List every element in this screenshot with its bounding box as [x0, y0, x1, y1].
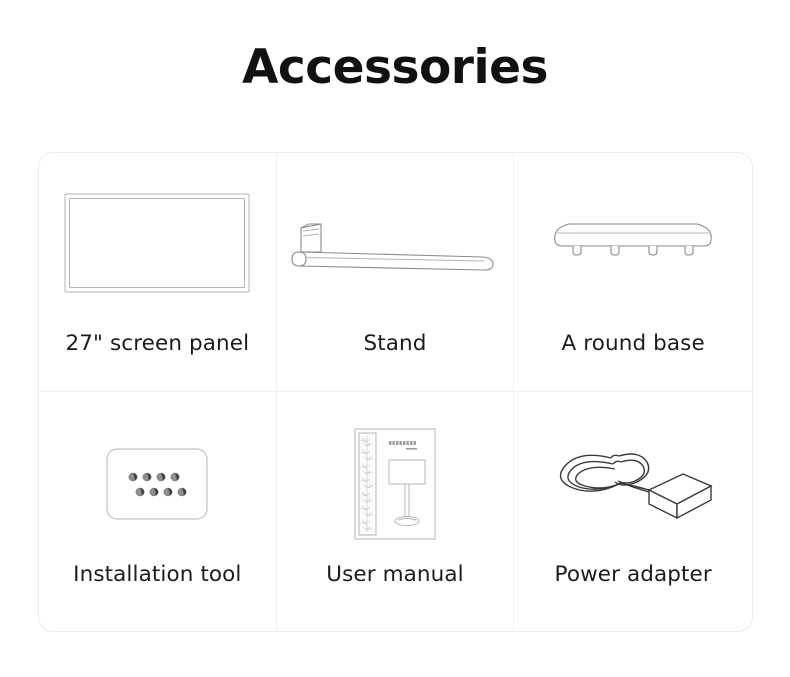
accessory-cell-power-adapter[interactable]: Power adapter — [514, 392, 752, 631]
accessories-grid: 27" screen panel Stand — [39, 153, 752, 631]
monitor-panel-icon — [39, 153, 276, 331]
monitor-base-icon — [514, 153, 752, 331]
accessory-cell-stand[interactable]: Stand — [277, 153, 515, 392]
manual-booklet-icon — [277, 392, 514, 562]
accessory-label: Installation tool — [73, 562, 241, 588]
accessory-label: Stand — [363, 331, 426, 357]
accessory-label: Power adapter — [555, 562, 712, 588]
accessory-cell-installation-tool[interactable]: Installation tool — [39, 392, 277, 631]
accessory-label: A round base — [562, 331, 705, 357]
accessory-label: 27" screen panel — [66, 331, 250, 357]
accessory-cell-user-manual[interactable]: User manual — [277, 392, 515, 631]
monitor-stand-arm-icon — [277, 153, 514, 331]
power-adapter-icon — [514, 392, 752, 562]
page-title: Accessories — [0, 42, 790, 94]
accessory-cell-round-base[interactable]: A round base — [514, 153, 752, 392]
accessory-cell-screen-panel[interactable]: 27" screen panel — [39, 153, 277, 392]
accessory-label: User manual — [326, 562, 463, 588]
screw-set-icon — [39, 392, 276, 562]
accessories-card: 27" screen panel Stand — [38, 152, 753, 632]
